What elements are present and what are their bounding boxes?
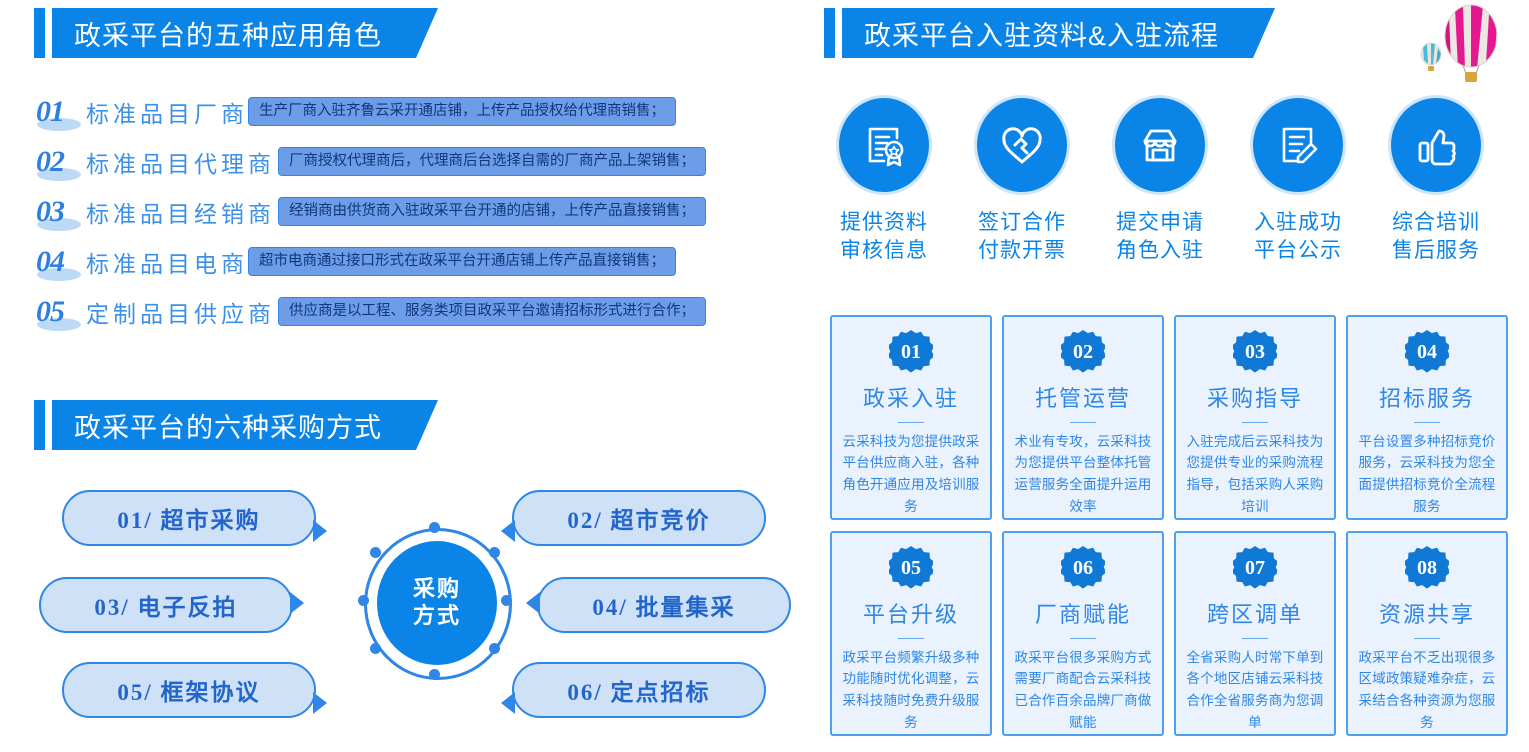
role-number: 04 <box>34 245 64 279</box>
role-number-badge: 01 <box>34 93 86 131</box>
card-number: 08 <box>1417 558 1437 578</box>
pill-tail <box>501 692 515 714</box>
role-row: 01 标准品目厂商 生产厂商入驻齐鲁云采开通店铺，上传产品授权给代理商销售； <box>34 92 794 131</box>
banner-tick <box>824 8 835 58</box>
card-number-badge: 05 <box>889 546 933 590</box>
card-title: 厂商赋能 <box>1035 597 1131 629</box>
card-body: 术业有专攻，云采科技为您提供平台整体托管运营服务全面提升运用效率 <box>1014 431 1152 518</box>
banner-gap <box>835 8 842 58</box>
card-title: 政采入驻 <box>863 381 959 413</box>
process-step-label: 综合培训 售后服务 <box>1386 209 1486 266</box>
role-description: 生产厂商入驻齐鲁云采开通店铺，上传产品授权给代理商销售； <box>248 97 676 126</box>
step-label-line2: 平台公示 <box>1248 237 1348 265</box>
hub-dot <box>501 595 512 606</box>
hub-label-line1: 采购 <box>413 576 461 603</box>
left-column: 政采平台的五种应用角色 01 标准品目厂商 生产厂商入驻齐鲁云采开通店铺，上传产… <box>0 0 810 752</box>
right-column: 政采平台入驻资料&入驻流程 <box>812 0 1529 752</box>
process-step-4[interactable]: 入驻成功 平台公示 <box>1248 95 1348 266</box>
step-label-line2: 售后服务 <box>1386 237 1486 265</box>
process-step-label: 入驻成功 平台公示 <box>1248 209 1348 266</box>
card-body: 平台设置多种招标竞价服务，云采科技为您全面提供招标竞价全流程服务 <box>1358 431 1496 518</box>
hub-dot <box>370 643 381 654</box>
step-label-line1: 入驻成功 <box>1248 209 1348 237</box>
method-pill-05[interactable]: 05/ 框架协议 <box>62 662 316 718</box>
step-label-line2: 付款开票 <box>972 237 1072 265</box>
process-step-label: 提交申请 角色入驻 <box>1110 209 1210 266</box>
hot-air-balloon-icon <box>1411 2 1511 84</box>
pill-tail <box>313 692 327 714</box>
pill-tail <box>313 520 327 542</box>
roles-section-title: 政采平台的五种应用角色 <box>74 14 382 53</box>
certificate-icon <box>836 95 932 195</box>
card-number: 01 <box>901 342 921 362</box>
method-pill-02[interactable]: 02/ 超市竞价 <box>512 490 766 546</box>
card-divider <box>898 422 924 423</box>
card-body: 政采平台不乏出现很多区域政策疑难杂症，云采结合各种资源为您服务 <box>1358 647 1496 734</box>
card-number: 03 <box>1245 342 1265 362</box>
method-label: 01/ 超市采购 <box>117 501 260 535</box>
card-divider <box>1070 422 1096 423</box>
process-step-label: 提供资料 审核信息 <box>834 209 934 266</box>
service-card-08[interactable]: 08 资源共享 政采平台不乏出现很多区域政策疑难杂症，云采结合各种资源为您服务 <box>1346 531 1508 736</box>
service-card-06[interactable]: 06 厂商赋能 政采平台很多采购方式需要厂商配合云采科技已合作百余品牌厂商做赋能 <box>1002 531 1164 736</box>
role-row: 03 标准品目经销商 经销商由供货商入驻政采平台开通的店铺，上传产品直接销售； <box>34 192 794 231</box>
banner-plate: 政采平台的六种采购方式 <box>52 400 438 450</box>
card-divider <box>1070 638 1096 639</box>
card-number-badge: 01 <box>889 330 933 374</box>
card-number: 07 <box>1245 558 1265 578</box>
card-body: 入驻完成后云采科技为您提供专业的采购流程指导，包括采购人采购培训 <box>1186 431 1324 518</box>
role-number: 03 <box>34 195 64 229</box>
service-card-05[interactable]: 05 平台升级 政采平台频繁升级多种功能随时优化调整，云采科技随时免费升级服务 <box>830 531 992 736</box>
step-label-line1: 提交申请 <box>1110 209 1210 237</box>
card-body: 全省采购人时常下单到各个地区店铺云采科技合作全省服务商为您调单 <box>1186 647 1324 734</box>
methods-hub: 采购 方式 <box>364 528 510 678</box>
process-step-5[interactable]: 综合培训 售后服务 <box>1386 95 1486 266</box>
card-title: 平台升级 <box>863 597 959 629</box>
card-number: 05 <box>901 558 921 578</box>
role-name: 定制品目供应商 <box>86 295 266 329</box>
banner-gap <box>45 400 52 450</box>
banner-tick <box>34 400 45 450</box>
role-number: 02 <box>34 145 64 179</box>
card-number-badge: 04 <box>1405 330 1449 374</box>
role-description: 厂商授权代理商后，代理商后台选择自需的厂商产品上架销售； <box>278 147 706 176</box>
role-name: 标准品目代理商 <box>86 145 266 179</box>
card-title: 采购指导 <box>1207 381 1303 413</box>
methods-diagram: 01/ 超市采购 02/ 超市竞价 03/ 电子反拍 04/ 批量集采 05/ … <box>34 478 794 728</box>
step-label-line2: 角色入驻 <box>1110 237 1210 265</box>
pill-tail <box>526 592 540 614</box>
process-step-label: 签订合作 付款开票 <box>972 209 1072 266</box>
process-step-3[interactable]: 提交申请 角色入驻 <box>1110 95 1210 266</box>
role-description: 经销商由供货商入驻政采平台开通的店铺，上传产品直接销售； <box>278 197 706 226</box>
shop-icon <box>1112 95 1208 195</box>
card-body: 政采平台频繁升级多种功能随时优化调整，云采科技随时免费升级服务 <box>842 647 980 734</box>
method-label: 05/ 框架协议 <box>117 673 260 707</box>
card-number: 02 <box>1073 342 1093 362</box>
document-edit-icon <box>1250 95 1346 195</box>
role-number-badge: 04 <box>34 243 86 281</box>
service-card-07[interactable]: 07 跨区调单 全省采购人时常下单到各个地区店铺云采科技合作全省服务商为您调单 <box>1174 531 1336 736</box>
step-label-line1: 提供资料 <box>834 209 934 237</box>
card-body: 政采平台很多采购方式需要厂商配合云采科技已合作百余品牌厂商做赋能 <box>1014 647 1152 734</box>
card-number-badge: 02 <box>1061 330 1105 374</box>
role-number-badge: 02 <box>34 143 86 181</box>
step-label-line2: 审核信息 <box>834 237 934 265</box>
service-card-04[interactable]: 04 招标服务 平台设置多种招标竞价服务，云采科技为您全面提供招标竞价全流程服务 <box>1346 315 1508 520</box>
banner-tick <box>34 8 45 58</box>
banner-gap <box>45 8 52 58</box>
hub-dot <box>370 547 381 558</box>
card-number: 06 <box>1073 558 1093 578</box>
card-title: 招标服务 <box>1379 381 1475 413</box>
role-row: 04 标准品目电商 超市电商通过接口形式在政采平台开通店铺上传产品直接销售； <box>34 242 794 281</box>
hub-dot <box>429 522 440 533</box>
process-step-2[interactable]: 签订合作 付款开票 <box>972 95 1072 266</box>
role-row: 05 定制品目供应商 供应商是以工程、服务类项目政采平台邀请招标形式进行合作； <box>34 292 794 331</box>
method-label: 06/ 定点招标 <box>567 673 710 707</box>
method-pill-01[interactable]: 01/ 超市采购 <box>62 490 316 546</box>
hub-core: 采购 方式 <box>377 541 497 665</box>
process-section-banner: 政采平台入驻资料&入驻流程 <box>824 8 1275 58</box>
method-label: 02/ 超市竞价 <box>567 501 710 535</box>
step-label-line1: 综合培训 <box>1386 209 1486 237</box>
hub-dot <box>489 643 500 654</box>
method-pill-03[interactable]: 03/ 电子反拍 <box>39 577 293 633</box>
service-card-02[interactable]: 02 托管运营 术业有专攻，云采科技为您提供平台整体托管运营服务全面提升运用效率 <box>1002 315 1164 520</box>
role-description: 供应商是以工程、服务类项目政采平台邀请招标形式进行合作； <box>278 297 706 326</box>
card-title: 跨区调单 <box>1207 597 1303 629</box>
role-row: 02 标准品目代理商 厂商授权代理商后，代理商后台选择自需的厂商产品上架销售； <box>34 142 794 181</box>
handshake-heart-icon <box>974 95 1070 195</box>
service-card-03[interactable]: 03 采购指导 入驻完成后云采科技为您提供专业的采购流程指导，包括采购人采购培训 <box>1174 315 1336 520</box>
role-number: 01 <box>34 95 64 129</box>
roles-section-banner: 政采平台的五种应用角色 <box>34 8 438 58</box>
method-pill-04[interactable]: 04/ 批量集采 <box>537 577 791 633</box>
card-divider <box>1242 638 1268 639</box>
hub-label-line2: 方式 <box>413 603 461 630</box>
hub-dot <box>358 595 369 606</box>
card-number: 04 <box>1417 342 1437 362</box>
role-name: 标准品目经销商 <box>86 195 266 229</box>
roles-list: 01 标准品目厂商 生产厂商入驻齐鲁云采开通店铺，上传产品授权给代理商销售； 0… <box>34 92 794 342</box>
methods-section-title: 政采平台的六种采购方式 <box>74 406 382 445</box>
card-number-badge: 07 <box>1233 546 1277 590</box>
process-section-title: 政采平台入驻资料&入驻流程 <box>864 14 1219 53</box>
role-number-badge: 03 <box>34 193 86 231</box>
banner-plate: 政采平台的五种应用角色 <box>52 8 438 58</box>
card-divider <box>1414 422 1440 423</box>
role-description: 超市电商通过接口形式在政采平台开通店铺上传产品直接销售； <box>248 247 676 276</box>
process-step-1[interactable]: 提供资料 审核信息 <box>834 95 934 266</box>
method-pill-06[interactable]: 06/ 定点招标 <box>512 662 766 718</box>
role-number: 05 <box>34 295 64 329</box>
hub-dot <box>429 669 440 680</box>
card-body: 云采科技为您提供政采平台供应商入驻，各种角色开通应用及培训服务 <box>842 431 980 518</box>
card-divider <box>898 638 924 639</box>
pill-tail <box>290 592 304 614</box>
service-card-01[interactable]: 01 政采入驻 云采科技为您提供政采平台供应商入驻，各种角色开通应用及培训服务 <box>830 315 992 520</box>
method-label: 04/ 批量集采 <box>592 588 735 622</box>
step-label-line1: 签订合作 <box>972 209 1072 237</box>
thumbs-up-icon <box>1388 95 1484 195</box>
role-name: 标准品目厂商 <box>86 95 236 129</box>
card-number-badge: 03 <box>1233 330 1277 374</box>
card-number-badge: 08 <box>1405 546 1449 590</box>
hub-dot <box>489 547 500 558</box>
banner-plate: 政采平台入驻资料&入驻流程 <box>842 8 1275 58</box>
card-title: 资源共享 <box>1379 597 1475 629</box>
role-number-badge: 05 <box>34 293 86 331</box>
method-label: 03/ 电子反拍 <box>94 588 237 622</box>
card-number-badge: 06 <box>1061 546 1105 590</box>
card-title: 托管运营 <box>1035 381 1131 413</box>
role-name: 标准品目电商 <box>86 245 236 279</box>
card-divider <box>1242 422 1268 423</box>
methods-section-banner: 政采平台的六种采购方式 <box>34 400 438 450</box>
card-divider <box>1414 638 1440 639</box>
